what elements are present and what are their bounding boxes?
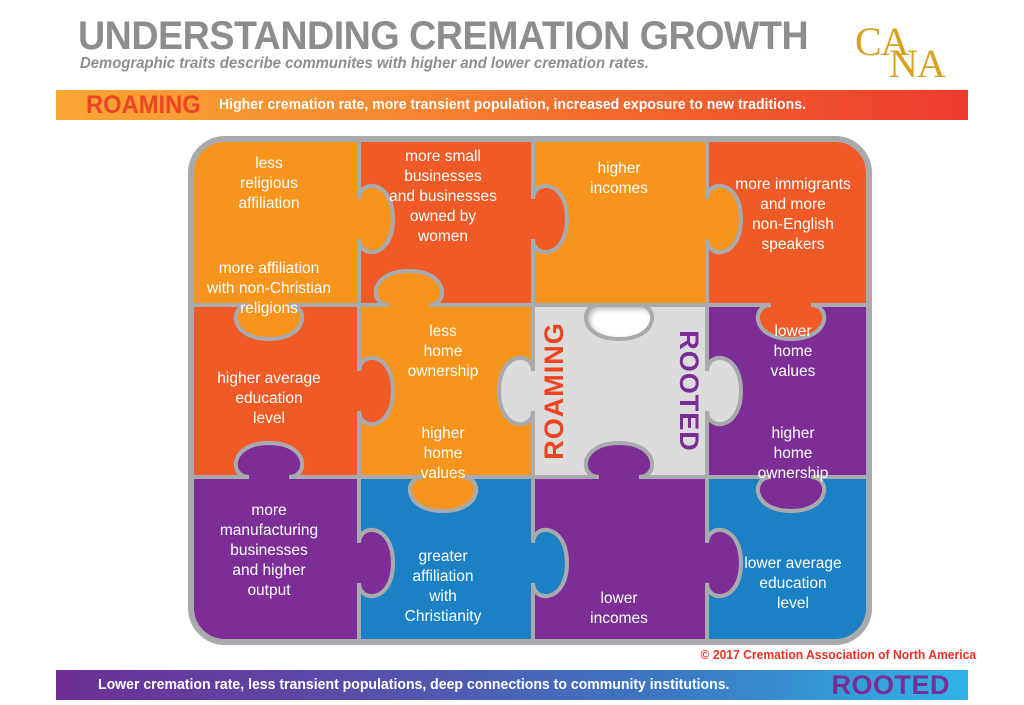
svg-text:businesses: businesses (230, 542, 308, 559)
svg-text:non-English: non-English (752, 216, 834, 233)
svg-text:owned by: owned by (410, 208, 477, 225)
copyright-text: © 2017 Cremation Association of North Am… (700, 648, 976, 662)
svg-text:Christianity: Christianity (405, 608, 482, 625)
svg-text:higher average: higher average (217, 370, 320, 387)
svg-text:home: home (774, 343, 813, 360)
svg-text:religions: religions (240, 300, 298, 317)
center-label-rooted: ROOTED (674, 330, 704, 452)
svg-text:level: level (777, 595, 809, 612)
svg-text:higher: higher (597, 160, 640, 177)
roaming-banner-text: Higher cremation rate, more transient po… (219, 97, 806, 113)
svg-text:affiliation: affiliation (413, 568, 474, 585)
svg-text:ownership: ownership (408, 363, 479, 380)
logo-text-na: NA (889, 40, 945, 87)
svg-text:level: level (253, 410, 285, 427)
svg-text:and higher: and higher (232, 562, 305, 579)
svg-text:speakers: speakers (762, 236, 825, 253)
rooted-banner-text: Lower cremation rate, less transient pop… (98, 677, 729, 693)
roaming-banner-word: ROAMING (86, 91, 201, 120)
svg-text:incomes: incomes (590, 180, 648, 197)
svg-text:and businesses: and businesses (389, 188, 497, 205)
header: UNDERSTANDING CREMATION GROWTH Demograph… (0, 0, 1024, 88)
svg-text:less: less (429, 323, 457, 340)
svg-text:with non-Christian: with non-Christian (206, 280, 331, 297)
svg-text:greater: greater (418, 548, 467, 565)
svg-text:businesses: businesses (404, 168, 482, 185)
puzzle-svg: less religious affiliation more affiliat… (185, 133, 875, 648)
svg-text:women: women (417, 228, 468, 245)
svg-text:more: more (251, 502, 286, 519)
svg-text:higher: higher (771, 425, 814, 442)
svg-text:lower average: lower average (744, 555, 841, 572)
svg-text:more small: more small (405, 148, 481, 165)
svg-text:with: with (428, 588, 457, 605)
svg-text:home: home (424, 343, 463, 360)
svg-text:more affiliation: more affiliation (219, 260, 320, 277)
roaming-banner: ROAMING Higher cremation rate, more tran… (56, 90, 968, 120)
svg-text:education: education (759, 575, 826, 592)
svg-text:incomes: incomes (590, 610, 648, 627)
rooted-banner: Lower cremation rate, less transient pop… (56, 670, 968, 700)
svg-text:lower: lower (774, 323, 811, 340)
page-title: UNDERSTANDING CREMATION GROWTH (78, 14, 808, 59)
svg-text:less: less (255, 155, 283, 172)
svg-text:affiliation: affiliation (239, 195, 300, 212)
svg-text:values: values (421, 465, 466, 482)
puzzle-diagram: less religious affiliation more affiliat… (185, 133, 875, 648)
svg-text:and more: and more (760, 196, 825, 213)
infographic-page: UNDERSTANDING CREMATION GROWTH Demograph… (0, 0, 1024, 705)
svg-text:lower: lower (600, 590, 637, 607)
rooted-banner-word: ROOTED (831, 670, 950, 701)
svg-text:home: home (424, 445, 463, 462)
svg-text:religious: religious (240, 175, 298, 192)
svg-text:ownership: ownership (758, 465, 829, 482)
svg-text:home: home (774, 445, 813, 462)
svg-text:higher: higher (421, 425, 464, 442)
center-label-roaming: ROAMING (539, 322, 569, 460)
svg-text:education: education (235, 390, 302, 407)
svg-text:more immigrants: more immigrants (735, 176, 851, 193)
page-subtitle: Demographic traits describe communites w… (80, 55, 649, 73)
cana-logo: CA NA (855, 18, 975, 80)
svg-text:manufacturing: manufacturing (220, 522, 318, 539)
svg-text:values: values (771, 363, 816, 380)
svg-text:output: output (247, 582, 291, 599)
